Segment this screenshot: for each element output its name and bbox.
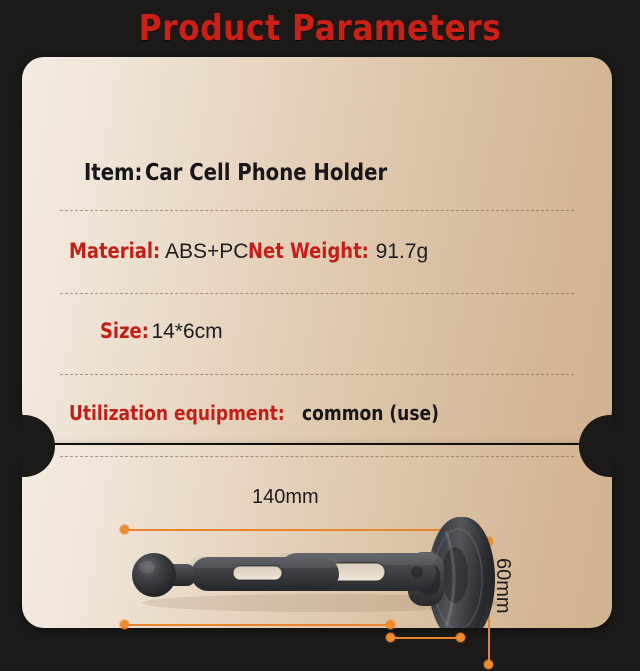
spec-list: Item: Car Cell Phone Holder Material: AB… [22,57,612,443]
product-illustration: 140mm 60mm 60mm 73mm [22,445,612,628]
dimension-label-segment-b: 73mm [300,648,356,671]
spec-label-net-weight: Net Weight: [248,241,369,262]
dimension-line-segment-b [390,637,462,639]
ball-head [132,553,195,597]
spec-label-size: Size: [100,321,149,342]
spec-row-material: Material: ABS+PC Net Weight:91.7g [69,241,428,262]
spec-label-item: Item: [84,162,142,185]
dimension-dot-b-left [386,633,395,642]
dimension-label-segment-a: 60mm [151,635,207,658]
spec-row-item: Item: Car Cell Phone Holder [84,161,400,185]
spec-divider-3 [60,374,574,375]
spec-divider-2 [60,293,574,294]
spec-row-size: Size: 14*6cm [100,321,223,342]
spec-value-size: 14*6cm [151,321,222,342]
arm-segment-front [191,557,339,591]
page-title: Product Parameters [139,8,502,49]
product-drawing [22,445,612,628]
spec-value-item: Car Cell Phone Holder [145,162,387,185]
dimension-dot-height-bottom [484,660,493,669]
spec-divider-1 [60,210,574,211]
dimension-dot-b-right [456,633,465,642]
spec-label-utilization: Utilization equipment: [69,403,285,423]
page-header: Product Parameters [0,0,640,56]
spec-value-net-weight: 91.7g [376,241,429,262]
spec-value-material: ABS+PC [165,241,248,262]
spec-row-utilization: Utilization equipment: common (use) [69,403,446,424]
spec-label-material: Material: [69,241,160,262]
parameters-card: Item: Car Cell Phone Holder Material: AB… [22,57,612,628]
spec-value-utilization: common (use) [302,403,439,423]
